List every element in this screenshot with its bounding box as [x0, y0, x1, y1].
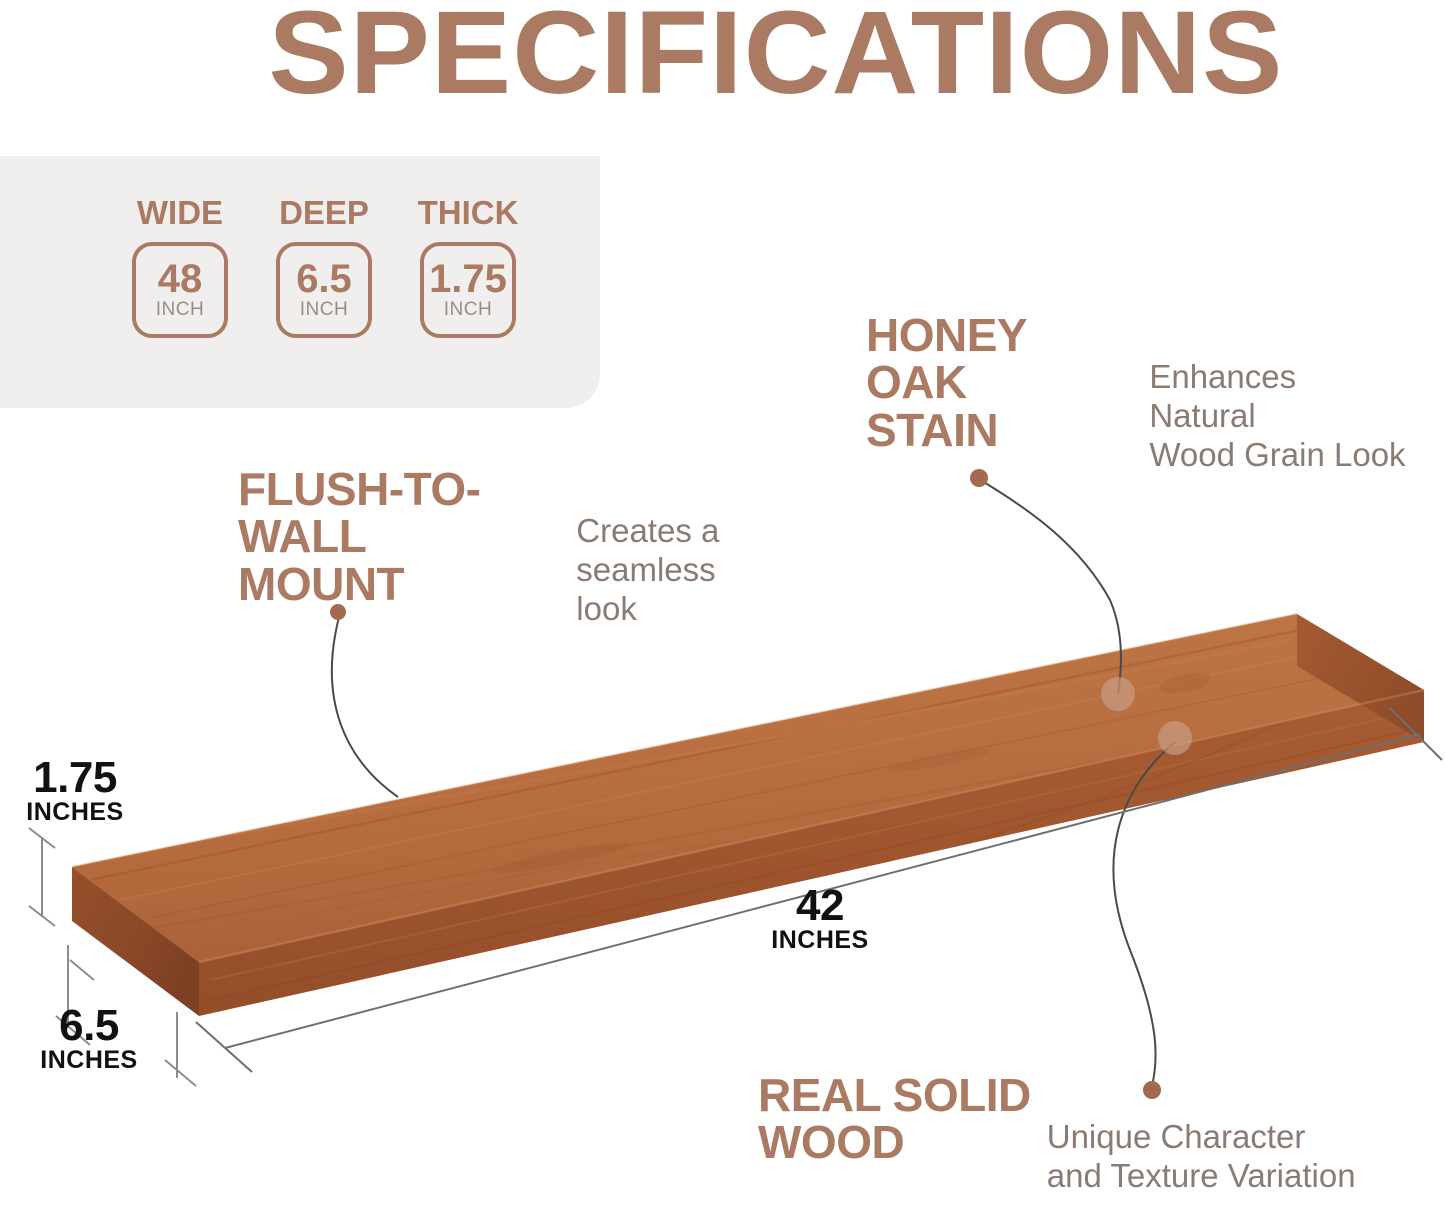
spec-box-wide: 48 INCH	[132, 242, 228, 338]
dimension-unit-depth: INCHES	[34, 1047, 144, 1075]
feature-title-real-solid-wood: REAL SOLID WOOD	[758, 1072, 1031, 1167]
spec-value-thick: 1.75	[429, 260, 507, 298]
spec-value-wide: 48	[158, 260, 203, 298]
feature-honey-oak-stain: HONEY OAK STAIN Enhances Natural Wood Gr…	[866, 312, 1406, 475]
dimension-label-thickness: 1.75 INCHES	[20, 756, 130, 827]
spec-item-wide: WIDE 48 INCH	[120, 194, 240, 338]
spec-label-deep: DEEP	[279, 194, 369, 232]
dimension-value-depth: 6.5	[34, 1004, 144, 1047]
leader-line-real-solid-wood	[1113, 721, 1192, 1099]
dimension-label-depth: 6.5 INCHES	[34, 1004, 144, 1075]
dimension-value-thickness: 1.75	[20, 756, 130, 799]
spec-unit-thick: INCH	[444, 300, 492, 319]
spec-unit-deep: INCH	[300, 300, 348, 319]
feature-description-flush-to-wall-mount: Creates a seamless look	[560, 466, 758, 629]
leader-line-honey-oak	[970, 469, 1135, 711]
dimension-value-length: 42	[760, 884, 880, 927]
feature-flush-to-wall-mount: FLUSH-TO-WALL MOUNT Creates a seamless l…	[238, 466, 758, 629]
feature-description-real-solid-wood: Unique Character and Texture Variation	[1031, 1072, 1356, 1196]
spec-unit-wide: INCH	[156, 300, 204, 319]
specification-infographic: SPECIFICATIONS WIDE 48 INCH DEEP 6.5 INC…	[0, 0, 1445, 1212]
feature-title-flush-to-wall-mount: FLUSH-TO-WALL MOUNT	[238, 466, 560, 608]
feature-real-solid-wood: REAL SOLID WOOD Unique Character and Tex…	[758, 1072, 1378, 1196]
wood-shelf-plank	[72, 614, 1430, 1016]
dimension-label-length: 42 INCHES	[760, 884, 880, 955]
feature-description-honey-oak-stain: Enhances Natural Wood Grain Look	[1133, 312, 1406, 475]
spec-item-thick: THICK 1.75 INCH	[408, 194, 528, 338]
spec-value-deep: 6.5	[296, 260, 352, 298]
spec-box-deep: 6.5 INCH	[276, 242, 372, 338]
spec-items-row: WIDE 48 INCH DEEP 6.5 INCH THICK 1.75 IN…	[120, 194, 528, 338]
specifications-card: WIDE 48 INCH DEEP 6.5 INCH THICK 1.75 IN…	[0, 156, 600, 408]
spec-label-thick: THICK	[418, 194, 519, 232]
dimension-line-thickness	[29, 828, 55, 926]
dimension-unit-length: INCHES	[760, 927, 880, 955]
page-title: SPECIFICATIONS	[118, 0, 1434, 122]
spec-label-wide: WIDE	[137, 194, 223, 232]
leader-line-flush-to-wall	[330, 604, 398, 797]
spec-box-thick: 1.75 INCH	[420, 242, 516, 338]
spec-item-deep: DEEP 6.5 INCH	[264, 194, 384, 338]
feature-title-honey-oak-stain: HONEY OAK STAIN	[866, 312, 1133, 454]
dimension-unit-thickness: INCHES	[20, 799, 130, 827]
